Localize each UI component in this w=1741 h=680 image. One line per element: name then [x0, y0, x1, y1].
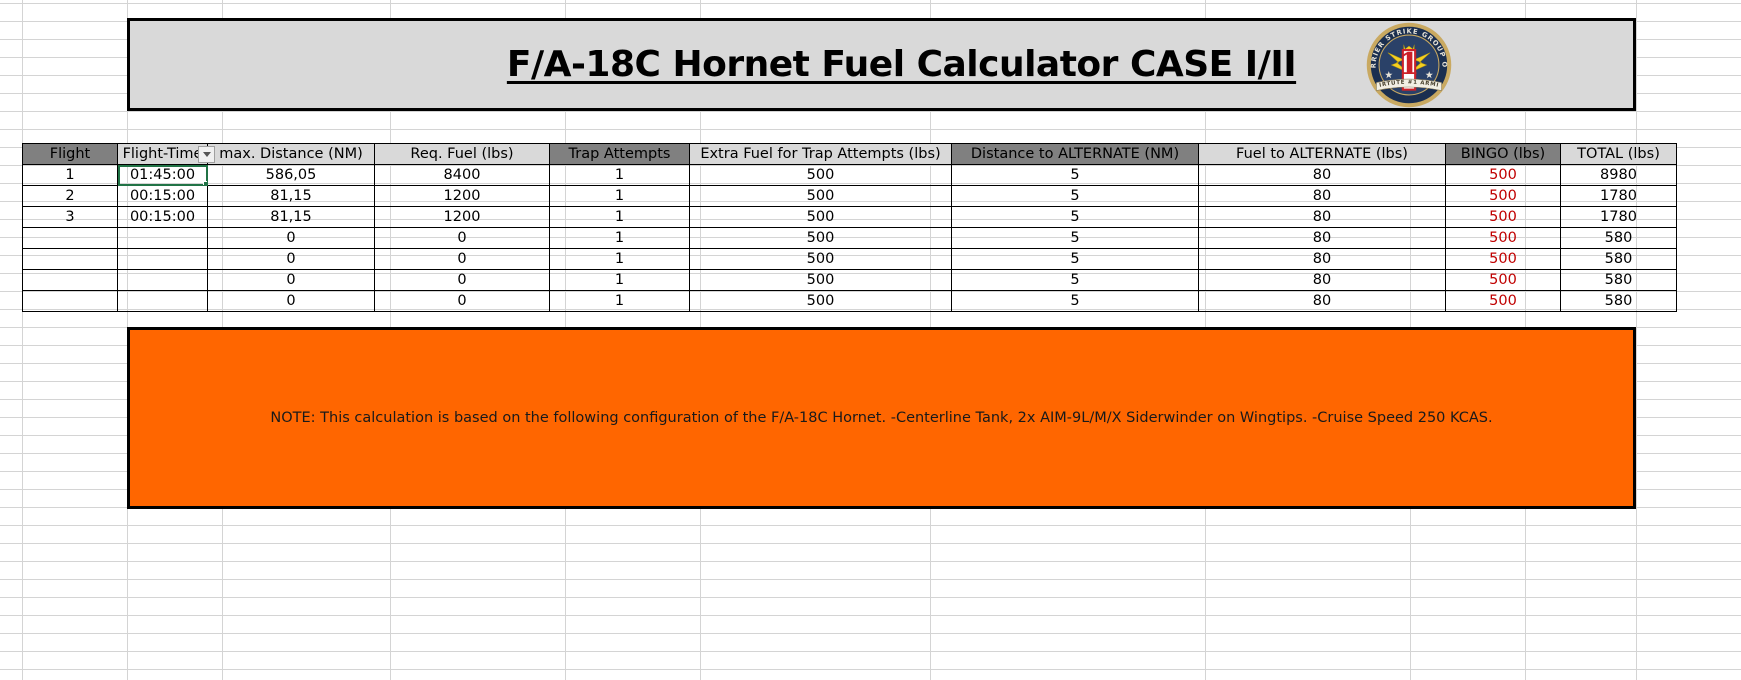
svg-text:1: 1	[1399, 46, 1420, 81]
cell-distance-alternate-nm[interactable]: 5	[952, 291, 1199, 312]
cell-req-fuel-lbs[interactable]: 0	[375, 291, 550, 312]
cell-distance-alternate-nm[interactable]: 5	[952, 270, 1199, 291]
cell-bingo-lbs[interactable]: 500	[1446, 186, 1561, 207]
cell-trap-attempts[interactable]: 1	[550, 165, 690, 186]
column-header-total-lbs[interactable]: TOTAL (lbs)	[1561, 144, 1677, 165]
table-row[interactable]: 200:15:0081,15120015005805001780	[23, 186, 1677, 207]
cell-bingo-lbs[interactable]: 500	[1446, 165, 1561, 186]
cell-extra-fuel-trap-lbs[interactable]: 500	[690, 270, 952, 291]
cell-max-distance-nm[interactable]: 0	[208, 270, 375, 291]
column-header-max-distance-nm[interactable]: max. Distance (NM)	[208, 144, 375, 165]
cell-flight[interactable]: 1	[23, 165, 118, 186]
cell-trap-attempts[interactable]: 1	[550, 207, 690, 228]
cell-total-lbs[interactable]: 580	[1561, 249, 1677, 270]
cell-total-lbs[interactable]: 580	[1561, 270, 1677, 291]
cell-extra-fuel-trap-lbs[interactable]: 500	[690, 207, 952, 228]
cell-extra-fuel-trap-lbs[interactable]: 500	[690, 228, 952, 249]
cell-extra-fuel-trap-lbs[interactable]: 500	[690, 186, 952, 207]
cell-fuel-alternate-lbs[interactable]: 80	[1199, 186, 1446, 207]
table-row[interactable]: 001500580500580	[23, 228, 1677, 249]
cell-flight[interactable]: 3	[23, 207, 118, 228]
cell-fuel-alternate-lbs[interactable]: 80	[1199, 228, 1446, 249]
title-banner[interactable]: F/A-18C Hornet Fuel Calculator CASE I/II…	[127, 18, 1636, 111]
cell-req-fuel-lbs[interactable]: 0	[375, 270, 550, 291]
cell-trap-attempts[interactable]: 1	[550, 270, 690, 291]
table-row[interactable]: 300:15:0081,15120015005805001780	[23, 207, 1677, 228]
column-header-distance-to-alternate-nm[interactable]: Distance to ALTERNATE (NM)	[952, 144, 1199, 165]
table-row[interactable]: 001500580500580	[23, 249, 1677, 270]
cell-flight[interactable]	[23, 270, 118, 291]
cell-trap-attempts[interactable]: 1	[550, 249, 690, 270]
column-header-bingo-lbs[interactable]: BINGO (lbs)	[1446, 144, 1561, 165]
cell-total-lbs[interactable]: 580	[1561, 291, 1677, 312]
cell-fuel-alternate-lbs[interactable]: 80	[1199, 165, 1446, 186]
page-title: F/A-18C Hornet Fuel Calculator CASE I/II	[507, 44, 1296, 85]
cell-distance-alternate-nm[interactable]: 5	[952, 186, 1199, 207]
cell-trap-attempts[interactable]: 1	[550, 228, 690, 249]
cell-bingo-lbs[interactable]: 500	[1446, 249, 1561, 270]
cell-max-distance-nm[interactable]: 586,05	[208, 165, 375, 186]
column-header-fuel-to-alternate-lbs[interactable]: Fuel to ALTERNATE (lbs)	[1199, 144, 1446, 165]
cell-flight[interactable]	[23, 291, 118, 312]
table-row[interactable]: 101:45:00586,05840015005805008980	[23, 165, 1677, 186]
cell-req-fuel-lbs[interactable]: 1200	[375, 186, 550, 207]
cell-total-lbs[interactable]: 1780	[1561, 207, 1677, 228]
cell-req-fuel-lbs[interactable]: 1200	[375, 207, 550, 228]
cell-fuel-alternate-lbs[interactable]: 80	[1199, 270, 1446, 291]
cell-total-lbs[interactable]: 580	[1561, 228, 1677, 249]
cell-flight-time[interactable]	[118, 270, 208, 291]
note-text: NOTE: This calculation is based on the f…	[246, 410, 1516, 426]
column-header-extra-fuel-for-trap-attempts-lbs[interactable]: Extra Fuel for Trap Attempts (lbs)	[690, 144, 952, 165]
table-row[interactable]: 001500580500580	[23, 270, 1677, 291]
cell-flight[interactable]: 2	[23, 186, 118, 207]
cell-trap-attempts[interactable]: 1	[550, 186, 690, 207]
column-header-flight-time[interactable]: Flight-Time	[118, 144, 208, 165]
cell-extra-fuel-trap-lbs[interactable]: 500	[690, 291, 952, 312]
cell-req-fuel-lbs[interactable]: 0	[375, 228, 550, 249]
cell-max-distance-nm[interactable]: 81,15	[208, 186, 375, 207]
flight-time-dropdown-button[interactable]	[198, 146, 215, 163]
note-box[interactable]: NOTE: This calculation is based on the f…	[127, 327, 1636, 509]
cell-flight[interactable]	[23, 228, 118, 249]
cell-flight-time[interactable]: 00:15:00	[118, 207, 208, 228]
cell-distance-alternate-nm[interactable]: 5	[952, 228, 1199, 249]
cell-extra-fuel-trap-lbs[interactable]: 500	[690, 249, 952, 270]
cell-bingo-lbs[interactable]: 500	[1446, 291, 1561, 312]
spreadsheet-canvas[interactable]: F/A-18C Hornet Fuel Calculator CASE I/II…	[0, 0, 1741, 680]
cell-bingo-lbs[interactable]: 500	[1446, 270, 1561, 291]
cell-max-distance-nm[interactable]: 0	[208, 228, 375, 249]
cell-flight-time-selected[interactable]: 01:45:00	[118, 165, 208, 186]
column-header-req-fuel-lbs[interactable]: Req. Fuel (lbs)	[375, 144, 550, 165]
cell-fuel-alternate-lbs[interactable]: 80	[1199, 291, 1446, 312]
cell-bingo-lbs[interactable]: 500	[1446, 207, 1561, 228]
cell-req-fuel-lbs[interactable]: 0	[375, 249, 550, 270]
cell-flight-time[interactable]	[118, 249, 208, 270]
column-header-flight[interactable]: Flight	[23, 144, 118, 165]
cell-flight-time[interactable]	[118, 291, 208, 312]
cell-extra-fuel-trap-lbs[interactable]: 500	[690, 165, 952, 186]
cell-fuel-alternate-lbs[interactable]: 80	[1199, 249, 1446, 270]
cell-distance-alternate-nm[interactable]: 5	[952, 207, 1199, 228]
cell-distance-alternate-nm[interactable]: 5	[952, 249, 1199, 270]
table-row[interactable]: 001500580500580	[23, 291, 1677, 312]
table-header-row: FlightFlight-Timemax. Distance (NM)Req. …	[23, 144, 1677, 165]
cell-fuel-alternate-lbs[interactable]: 80	[1199, 207, 1446, 228]
cell-max-distance-nm[interactable]: 81,15	[208, 207, 375, 228]
cell-flight[interactable]	[23, 249, 118, 270]
cell-total-lbs[interactable]: 1780	[1561, 186, 1677, 207]
cell-max-distance-nm[interactable]: 0	[208, 291, 375, 312]
column-header-trap-attempts[interactable]: Trap Attempts	[550, 144, 690, 165]
cell-bingo-lbs[interactable]: 500	[1446, 228, 1561, 249]
fuel-calculation-table[interactable]: FlightFlight-Timemax. Distance (NM)Req. …	[22, 143, 1677, 312]
carrier-strike-group-one-insignia-icon: CARRIER STRIKE GROUP ONE 1 VIRTUTE #1 AR…	[1365, 21, 1453, 109]
cell-distance-alternate-nm[interactable]: 5	[952, 165, 1199, 186]
cell-flight-time[interactable]	[118, 228, 208, 249]
cell-max-distance-nm[interactable]: 0	[208, 249, 375, 270]
cell-trap-attempts[interactable]: 1	[550, 291, 690, 312]
cell-req-fuel-lbs[interactable]: 8400	[375, 165, 550, 186]
cell-flight-time[interactable]: 00:15:00	[118, 186, 208, 207]
cell-total-lbs[interactable]: 8980	[1561, 165, 1677, 186]
selection-fill-handle[interactable]	[203, 181, 208, 186]
chevron-down-icon	[203, 152, 211, 157]
